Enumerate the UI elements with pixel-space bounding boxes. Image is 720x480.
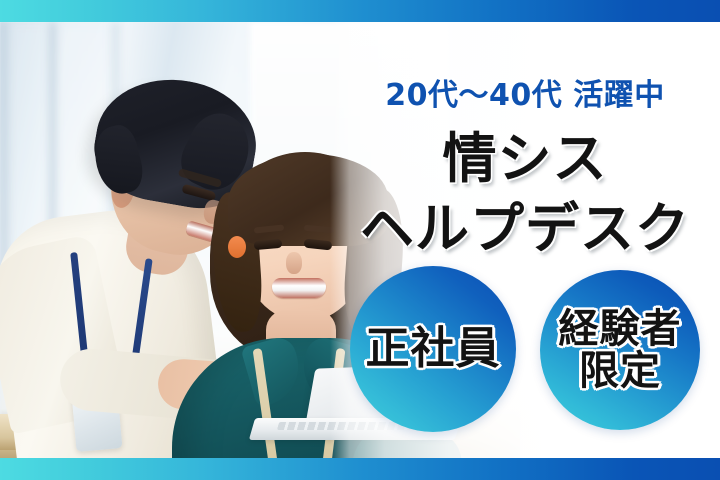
bottom-gradient-bar [0, 458, 720, 480]
badge-employment-type: 正社員 [350, 266, 516, 432]
badge-experience-required: 経験者 限定 [540, 270, 700, 430]
badge-experience-label-line-2: 限定 [579, 350, 661, 392]
badge-employment-type-label: 正社員 [366, 326, 501, 373]
headline-line-1: 情シス [330, 114, 720, 193]
subtitle: 20代～40代 活躍中 [330, 70, 720, 114]
top-gradient-bar [0, 0, 720, 22]
woman-nose [286, 252, 302, 274]
woman-earpiece [228, 236, 246, 258]
job-ad-banner: 20代～40代 活躍中 情シス ヘルプデスク 正社員 経験者 限定 [0, 0, 720, 480]
headline-line-2: ヘルプデスク [330, 184, 720, 263]
woman-mouth-smiling [272, 278, 326, 298]
badge-experience-label-line-1: 経験者 [559, 308, 682, 350]
